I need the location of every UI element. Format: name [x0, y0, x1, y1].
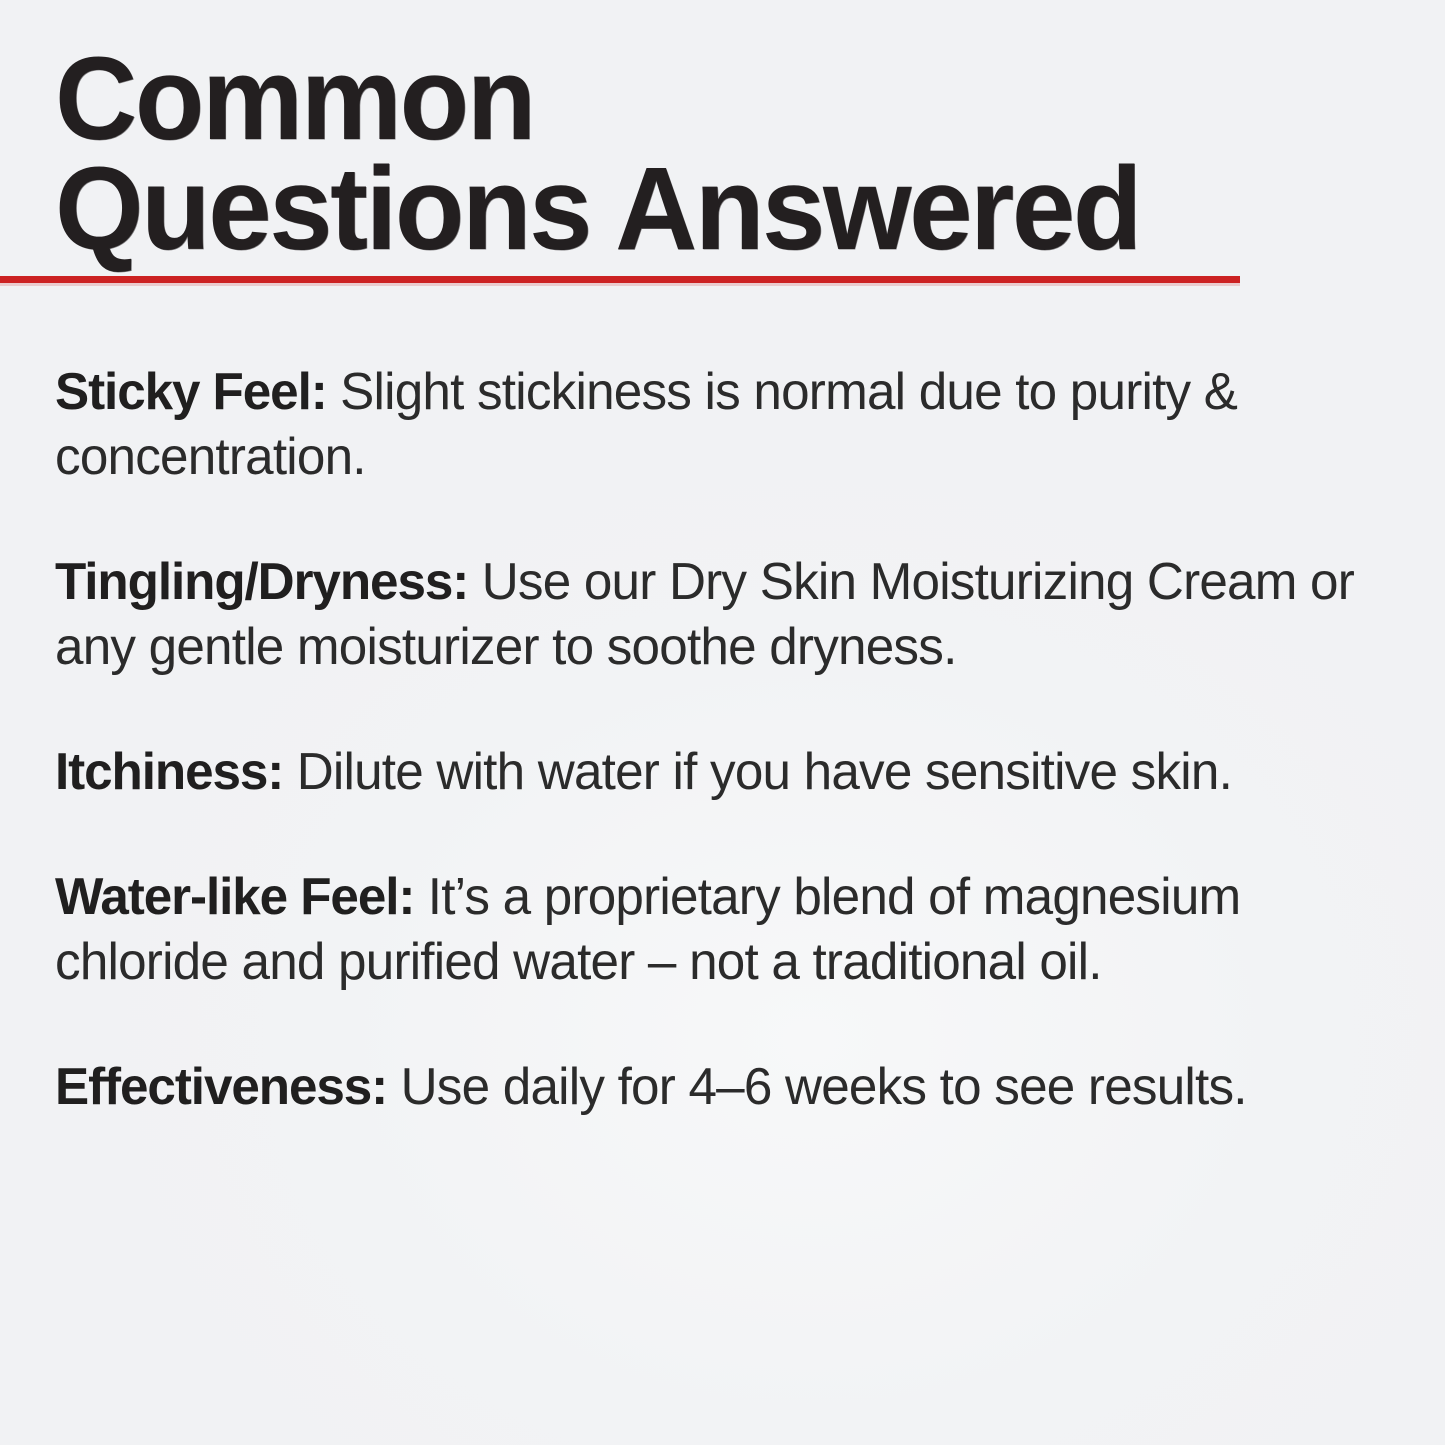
faq-item-water-like-feel: Water-like Feel: It’s a proprietary blen…	[55, 865, 1412, 995]
faq-term: Tingling/Dryness:	[55, 553, 468, 611]
faq-term: Itchiness:	[55, 743, 283, 801]
faq-description: Use daily for 4–6 weeks to see results.	[401, 1058, 1247, 1116]
faq-term: Sticky Feel:	[55, 363, 327, 421]
faq-description: Dilute with water if you have sensitive …	[297, 743, 1232, 801]
faq-term: Effectiveness:	[55, 1058, 387, 1116]
faq-infographic-card: Common Questions Answered Sticky Feel: S…	[0, 0, 1445, 1445]
faq-item-tingling-dryness: Tingling/Dryness: Use our Dry Skin Moist…	[55, 550, 1412, 680]
faq-list: Sticky Feel: Slight stickiness is normal…	[55, 360, 1433, 1120]
page-title-line-1: Common	[55, 44, 1348, 154]
title-divider-rule-shadow	[0, 283, 1240, 286]
faq-item-sticky-feel: Sticky Feel: Slight stickiness is normal…	[55, 360, 1412, 490]
page-title-line-2: Questions Answered	[55, 154, 1348, 264]
page-title: Common Questions Answered	[55, 44, 1395, 264]
faq-item-effectiveness: Effectiveness: Use daily for 4–6 weeks t…	[55, 1055, 1412, 1120]
faq-item-itchiness: Itchiness: Dilute with water if you have…	[55, 740, 1412, 805]
title-divider-rule	[0, 276, 1240, 283]
faq-term: Water-like Feel:	[55, 868, 414, 926]
